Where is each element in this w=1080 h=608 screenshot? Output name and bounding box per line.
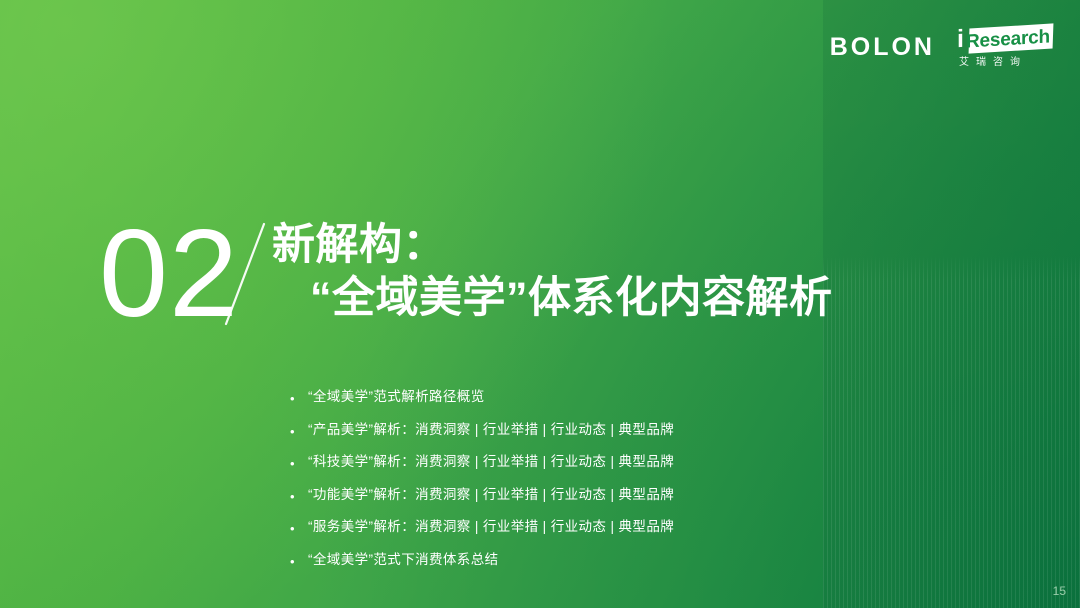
bullet-dot-icon: •	[290, 483, 308, 503]
bullet-dot-icon: •	[290, 450, 308, 470]
slash-divider-icon	[222, 222, 268, 326]
iresearch-chinese-name: 艾瑞咨询	[959, 56, 1027, 70]
list-item-label: “科技美学”解析：消费洞察 | 行业举措 | 行业动态 | 典型品牌	[308, 450, 674, 472]
section-number: 02	[99, 212, 239, 336]
list-item-label: “服务美学”解析：消费洞察 | 行业举措 | 行业动态 | 典型品牌	[308, 515, 674, 537]
iresearch-research-text: Research	[966, 27, 1050, 51]
page-number: 15	[1053, 584, 1066, 598]
bullet-dot-icon: •	[290, 385, 308, 405]
list-item: • “全域美学”范式解析路径概览	[290, 385, 930, 418]
list-item: • “功能美学”解析：消费洞察 | 行业举措 | 行业动态 | 典型品牌	[290, 483, 930, 516]
section-title: 新解构： “全域美学”体系化内容解析	[272, 219, 833, 325]
iresearch-logo: i Research 艾瑞咨询	[957, 24, 1053, 76]
list-item: • “科技美学”解析：消费洞察 | 行业举措 | 行业动态 | 典型品牌	[290, 450, 930, 483]
bolon-logo: BOLON	[830, 24, 935, 64]
section-heading: 02 新解构： “全域美学”体系化内容解析	[0, 214, 1080, 354]
bullet-dot-icon: •	[290, 418, 308, 438]
bullet-dot-icon: •	[290, 548, 308, 568]
list-item-label: “产品美学”解析：消费洞察 | 行业举措 | 行业动态 | 典型品牌	[308, 418, 674, 440]
list-item-label: “功能美学”解析：消费洞察 | 行业举措 | 行业动态 | 典型品牌	[308, 483, 674, 505]
list-item: • “全域美学”范式下消费体系总结	[290, 548, 930, 581]
iresearch-i-letter: i	[957, 27, 964, 52]
list-item: • “服务美学”解析：消费洞察 | 行业举措 | 行业动态 | 典型品牌	[290, 515, 930, 548]
brand-lockup: BOLON i Research 艾瑞咨询	[830, 24, 1053, 76]
iresearch-wordmark: i Research	[957, 24, 1053, 55]
list-item-label: “全域美学”范式下消费体系总结	[308, 548, 499, 570]
bullet-dot-icon: •	[290, 515, 308, 535]
section-title-line-2: “全域美学”体系化内容解析	[272, 272, 833, 325]
section-title-line-1: 新解构：	[272, 221, 446, 269]
list-item-label: “全域美学”范式解析路径概览	[308, 385, 485, 407]
slide-canvas: BOLON i Research 艾瑞咨询 02 新解构： “全域美学”体系化内…	[0, 0, 1080, 608]
agenda-list: • “全域美学”范式解析路径概览 • “产品美学”解析：消费洞察 | 行业举措 …	[290, 385, 930, 580]
list-item: • “产品美学”解析：消费洞察 | 行业举措 | 行业动态 | 典型品牌	[290, 418, 930, 451]
